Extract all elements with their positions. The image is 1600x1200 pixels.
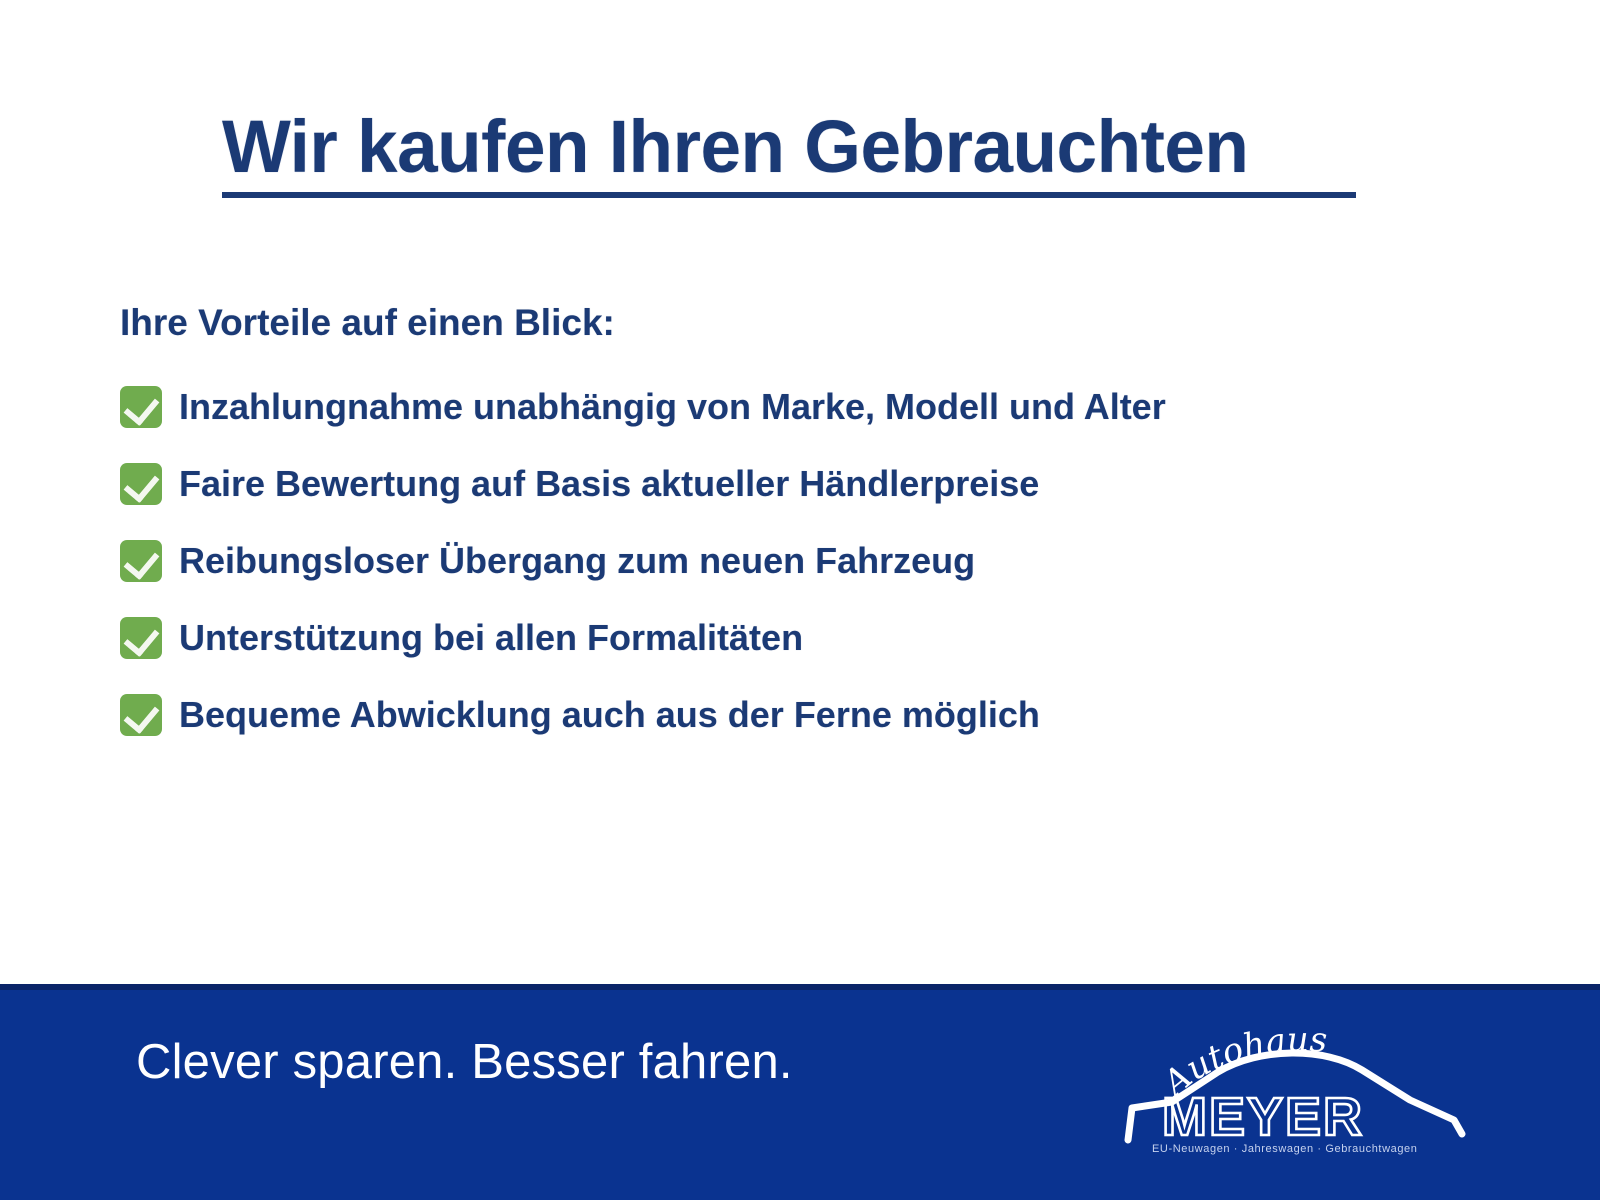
headline-underline (222, 192, 1356, 198)
list-item-label: Faire Bewertung auf Basis aktueller Händ… (179, 462, 1039, 506)
list-item: Unterstützung bei allen Formalitäten (120, 609, 1520, 667)
check-square-icon (120, 463, 162, 505)
check-square-icon (120, 386, 162, 428)
logo-tagline: EU-Neuwagen · Jahreswagen · Gebrauchtwag… (1152, 1143, 1418, 1155)
list-item-label: Bequeme Abwicklung auch aus der Ferne mö… (179, 693, 1040, 737)
list-item-label: Unterstützung bei allen Formalitäten (179, 616, 803, 660)
check-square-icon (120, 694, 162, 736)
check-square-icon (120, 617, 162, 659)
benefits-list: Inzahlungnahme unabhängig von Marke, Mod… (120, 378, 1520, 763)
check-square-icon (120, 540, 162, 582)
headline-container: Wir kaufen Ihren Gebrauchten (222, 104, 1362, 190)
logo-word-text: MEYER (1162, 1087, 1364, 1147)
list-item: Faire Bewertung auf Basis aktueller Händ… (120, 455, 1520, 513)
list-item: Reibungsloser Übergang zum neuen Fahrzeu… (120, 532, 1520, 590)
footer-slogan: Clever sparen. Besser fahren. (136, 1032, 793, 1092)
advertisement-poster: Wir kaufen Ihren Gebrauchten Ihre Vortei… (0, 0, 1600, 1200)
benefits-subtitle: Ihre Vorteile auf einen Blick: (120, 300, 615, 346)
list-item: Bequeme Abwicklung auch aus der Ferne mö… (120, 686, 1520, 744)
list-item: Inzahlungnahme unabhängig von Marke, Mod… (120, 378, 1520, 436)
dealer-logo: Autohaus MEYER EU-Neuwagen · Jahreswagen… (1110, 1002, 1480, 1160)
list-item-label: Reibungsloser Übergang zum neuen Fahrzeu… (179, 539, 975, 583)
page-title: Wir kaufen Ihren Gebrauchten (222, 104, 1345, 190)
list-item-label: Inzahlungnahme unabhängig von Marke, Mod… (179, 385, 1166, 429)
